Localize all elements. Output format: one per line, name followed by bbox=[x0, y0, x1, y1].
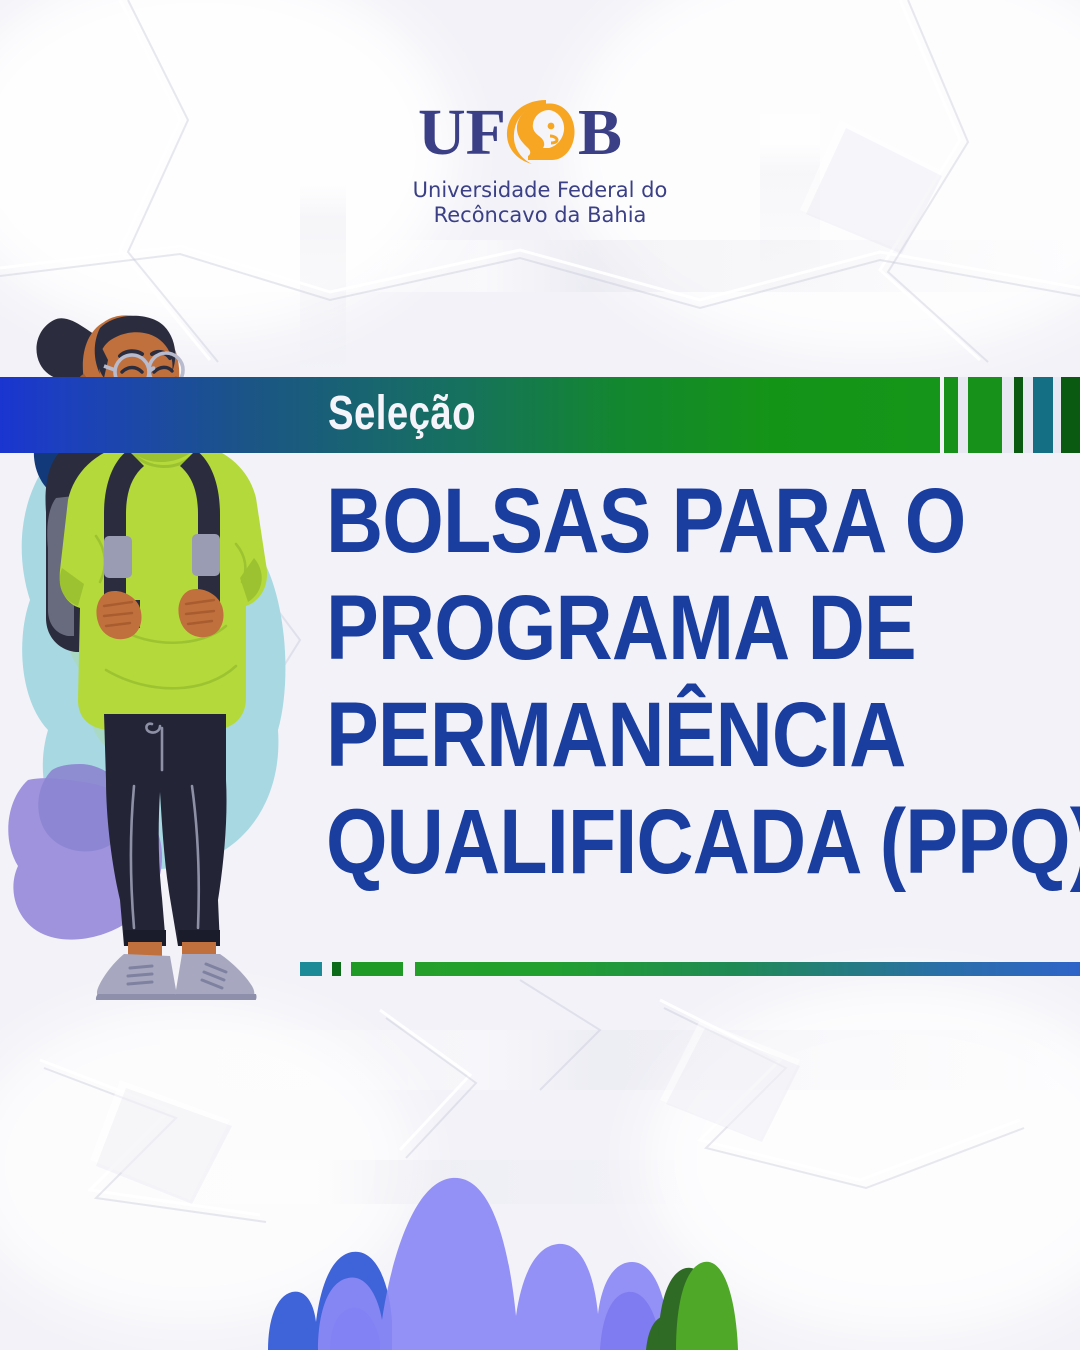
banner-bar-3 bbox=[968, 377, 1002, 453]
logo-subtitle: Universidade Federal do Recôncavo da Bah… bbox=[0, 178, 1080, 228]
logo-subtitle-line-2: Recôncavo da Bahia bbox=[0, 203, 1080, 228]
pants bbox=[104, 714, 227, 946]
divider-dash-3 bbox=[332, 962, 341, 976]
face-profile-icon bbox=[507, 100, 575, 164]
divider-dash-2 bbox=[322, 962, 332, 976]
banner-bar-2 bbox=[958, 377, 968, 453]
sweater bbox=[60, 440, 267, 731]
page-title-line-4: QUALIFICADA (PPQ) bbox=[326, 789, 945, 896]
divider-dash-5 bbox=[351, 962, 403, 976]
gradient-divider bbox=[300, 962, 1080, 976]
bottom-decoration bbox=[0, 1170, 1080, 1350]
divider-dash-1 bbox=[300, 962, 322, 976]
svg-text:B: B bbox=[578, 96, 622, 168]
ankle-left bbox=[128, 942, 162, 956]
poster-canvas: UF B Universidade Federal do Recôncavo d… bbox=[0, 0, 1080, 1350]
divider-dash-4 bbox=[341, 962, 351, 976]
page-title-line-3: PERMANÊNCIA bbox=[326, 682, 945, 789]
ufrb-wordmark: UF B bbox=[410, 96, 670, 168]
ankle-right bbox=[182, 942, 216, 956]
logo-subtitle-line-1: Universidade Federal do bbox=[0, 178, 1080, 203]
banner-bar-7 bbox=[1033, 377, 1053, 453]
bottom-blobs-svg bbox=[0, 1170, 1080, 1350]
selection-banner-label: Seleção bbox=[328, 383, 476, 445]
divider-dash-6 bbox=[403, 962, 415, 976]
strap-pad-right bbox=[192, 534, 220, 576]
banner-bar-6 bbox=[1023, 377, 1033, 453]
ufrb-logo: UF B Universidade Federal do Recôncavo d… bbox=[0, 96, 1080, 228]
shoe-left bbox=[97, 954, 177, 1000]
ufrb-logo-svg: UF B bbox=[410, 96, 670, 168]
banner-bar-1 bbox=[944, 377, 958, 453]
page-title-line-1: BOLSAS PARA O bbox=[326, 468, 945, 575]
banner-bar-8 bbox=[1053, 377, 1061, 453]
banner-bar-decoration bbox=[944, 377, 1080, 453]
svg-text:UF: UF bbox=[418, 96, 506, 168]
banner-bar-9 bbox=[1061, 377, 1080, 453]
page-title: BOLSAS PARA OPROGRAMA DEPERMANÊNCIAQUALI… bbox=[326, 468, 1046, 896]
banner-bar-5 bbox=[1014, 377, 1023, 453]
page-title-line-2: PROGRAMA DE bbox=[326, 575, 945, 682]
banner-bar-4 bbox=[1002, 377, 1014, 453]
strap-pad-left bbox=[104, 536, 132, 578]
divider-gradient-bar bbox=[415, 962, 1080, 976]
